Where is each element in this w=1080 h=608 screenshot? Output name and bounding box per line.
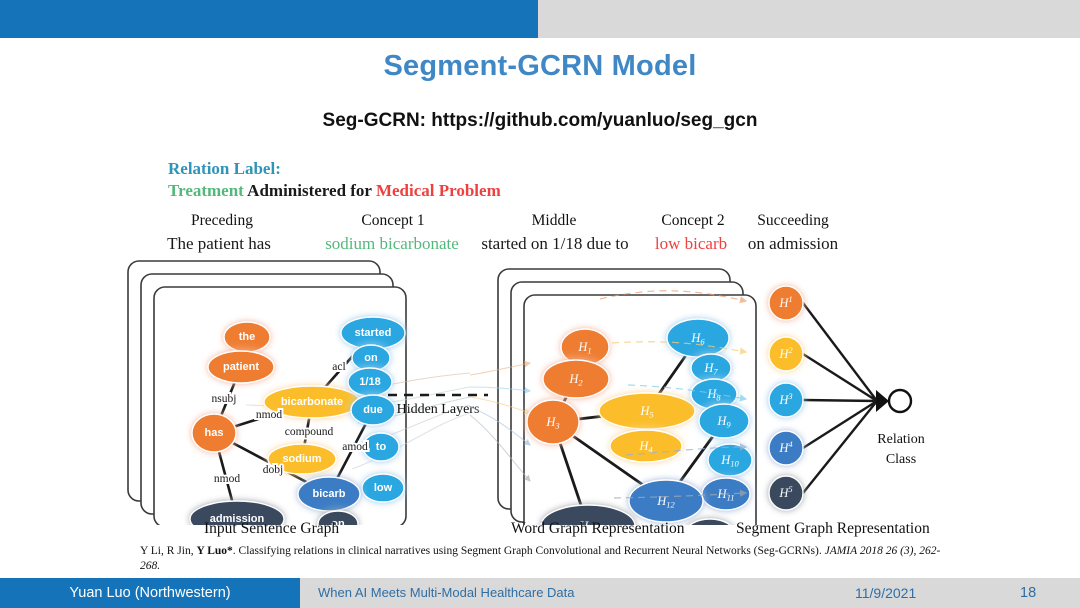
segment-node-Hs5[interactable]: H5 xyxy=(769,476,803,510)
top-bar xyxy=(0,0,1080,38)
top-bar-blue-block xyxy=(0,0,538,38)
input-node-has[interactable]: has xyxy=(192,414,236,452)
caption-word-graph: Word Graph Representation xyxy=(511,520,685,538)
citation-authors: Y Li, R Jin, xyxy=(140,545,196,557)
output-arrow-wedge xyxy=(876,390,889,412)
input-edge-label-dobj-4: dobj xyxy=(263,464,283,476)
input-node-label-has: has xyxy=(205,427,224,439)
word-node-H7[interactable]: H7 xyxy=(691,354,731,382)
segment-edge-Hs1-to-output xyxy=(803,303,877,401)
footer-presenter: Yuan Luo (Northwestern) xyxy=(0,578,300,608)
input-node-label-on1: on xyxy=(364,352,378,364)
word-node-H3[interactable]: H3 xyxy=(527,400,579,444)
model-diagram: thepatienthasbicarbonatesodiumstartedon1… xyxy=(0,255,1080,525)
segment-node-Hs3[interactable]: H3 xyxy=(769,383,803,417)
input-node-label-d118: 1/18 xyxy=(359,376,380,388)
input-node-label-patient: patient xyxy=(223,361,259,373)
word-node-H9[interactable]: H9 xyxy=(699,404,749,438)
caption-segment-graph: Segment Graph Representation xyxy=(736,520,930,538)
segment-node-Hs4[interactable]: H4 xyxy=(769,431,803,465)
segment-tag-1: Concept 1 xyxy=(361,212,424,230)
footer-page-number: 18 xyxy=(1020,578,1036,608)
panel-captions: Input Sentence Graph Word Graph Represen… xyxy=(0,520,1080,540)
slide-root: Segment-GCRN Model Seg-GCRN: https://git… xyxy=(0,0,1080,608)
segment-words-3: low bicarb xyxy=(655,234,727,254)
segment-edge-Hs3-to-output xyxy=(803,400,877,401)
hidden-layers-label: Hidden Layers xyxy=(397,402,480,417)
input-node-label-to: to xyxy=(376,441,387,453)
citation-author-highlight: Y Luo* xyxy=(196,545,232,557)
relation-class-label-line1: Relation xyxy=(877,432,924,447)
relation-class-label-line2: Class xyxy=(886,452,916,467)
input-node-label-due: due xyxy=(363,404,383,416)
caption-input-sentence-graph: Input Sentence Graph xyxy=(204,520,339,538)
input-node-d118[interactable]: 1/18 xyxy=(348,368,392,396)
footer-date: 11/9/2021 xyxy=(855,578,916,608)
sentence-segmentation: PrecedingConcept 1MiddleConcept 2Succeed… xyxy=(0,212,1080,258)
footer-bar: Yuan Luo (Northwestern) When AI Meets Mu… xyxy=(0,578,1080,608)
relation-label-heading: Relation Label: xyxy=(168,158,501,180)
relation-label-block: Relation Label: Treatment Administered f… xyxy=(168,158,501,203)
citation: Y Li, R Jin, Y Luo*. Classifying relatio… xyxy=(140,544,950,573)
repo-url-line[interactable]: Seg-GCRN: https://github.com/yuanluo/seg… xyxy=(0,110,1080,132)
page-title: Segment-GCRN Model xyxy=(0,50,1080,83)
input-node-to[interactable]: to xyxy=(363,433,399,461)
segment-graph-edges xyxy=(803,303,877,493)
input-node-label-the: the xyxy=(239,331,256,343)
input-node-label-bicarb: bicarb xyxy=(312,488,345,500)
segment-tag-4: Succeeding xyxy=(757,212,828,230)
word-node-H6[interactable]: H6 xyxy=(667,319,729,357)
segment-words-1: sodium bicarbonate xyxy=(325,234,459,254)
segment-edge-Hs2-to-output xyxy=(803,354,877,401)
input-node-label-sodium: sodium xyxy=(282,453,321,465)
input-node-due[interactable]: due xyxy=(351,395,395,425)
segment-words-2: started on 1/18 due to xyxy=(481,234,628,254)
input-node-on1[interactable]: on xyxy=(352,345,390,371)
input-edge-label-compound-2: compound xyxy=(285,426,334,438)
word-node-H2[interactable]: H2 xyxy=(543,360,609,398)
word-node-H5[interactable]: H5 xyxy=(599,393,695,429)
input-node-label-low: low xyxy=(374,482,393,494)
input-edge-label-acl-3: acl xyxy=(332,361,345,373)
input-node-low[interactable]: low xyxy=(362,474,404,502)
input-edge-label-amod-6: amod xyxy=(342,441,368,453)
output-circle[interactable] xyxy=(889,390,911,412)
segment-words-0: The patient has xyxy=(167,234,271,254)
word-node-H12[interactable]: H12 xyxy=(629,480,703,522)
input-node-label-started: started xyxy=(355,327,392,339)
segment-tag-2: Middle xyxy=(532,212,577,230)
input-node-label-bicarbonate: bicarbonate xyxy=(281,396,343,408)
diagram-svg: thepatienthasbicarbonatesodiumstartedon1… xyxy=(0,255,1080,525)
relation-treatment-term: Treatment xyxy=(168,181,244,200)
word-node-H10[interactable]: H10 xyxy=(708,444,752,476)
segment-edge-Hs5-to-output xyxy=(803,401,877,493)
relation-problem-term: Medical Problem xyxy=(376,181,501,200)
input-node-patient[interactable]: patient xyxy=(208,351,274,383)
relation-predicate: Administered for xyxy=(244,181,376,200)
input-edge-label-nsubj-0: nsubj xyxy=(212,393,237,405)
segment-tag-0: Preceding xyxy=(191,212,253,230)
input-node-the[interactable]: the xyxy=(224,322,270,352)
segment-words-4: on admission xyxy=(748,234,838,254)
input-node-started[interactable]: started xyxy=(341,317,405,349)
segment-tag-row: PrecedingConcept 1MiddleConcept 2Succeed… xyxy=(0,212,1080,232)
segment-graph-nodes: H1H2H3H4H5 xyxy=(769,286,803,510)
input-node-bicarb[interactable]: bicarb xyxy=(298,477,360,511)
relation-label-value: Treatment Administered for Medical Probl… xyxy=(168,180,501,202)
relation-class-output-node xyxy=(876,390,911,412)
input-edge-label-nmod-5: nmod xyxy=(214,473,240,485)
input-edge-label-nmod-1: nmod xyxy=(256,409,282,421)
word-node-H1[interactable]: H1 xyxy=(561,329,609,365)
segment-tag-3: Concept 2 xyxy=(661,212,724,230)
segment-node-Hs2[interactable]: H2 xyxy=(769,337,803,371)
word-node-H4[interactable]: H4 xyxy=(610,430,682,462)
segment-node-Hs1[interactable]: H1 xyxy=(769,286,803,320)
segment-edge-Hs4-to-output xyxy=(803,401,877,448)
citation-text: . Classifying relations in clinical narr… xyxy=(233,545,825,557)
footer-subtitle: When AI Meets Multi-Modal Healthcare Dat… xyxy=(318,578,575,608)
